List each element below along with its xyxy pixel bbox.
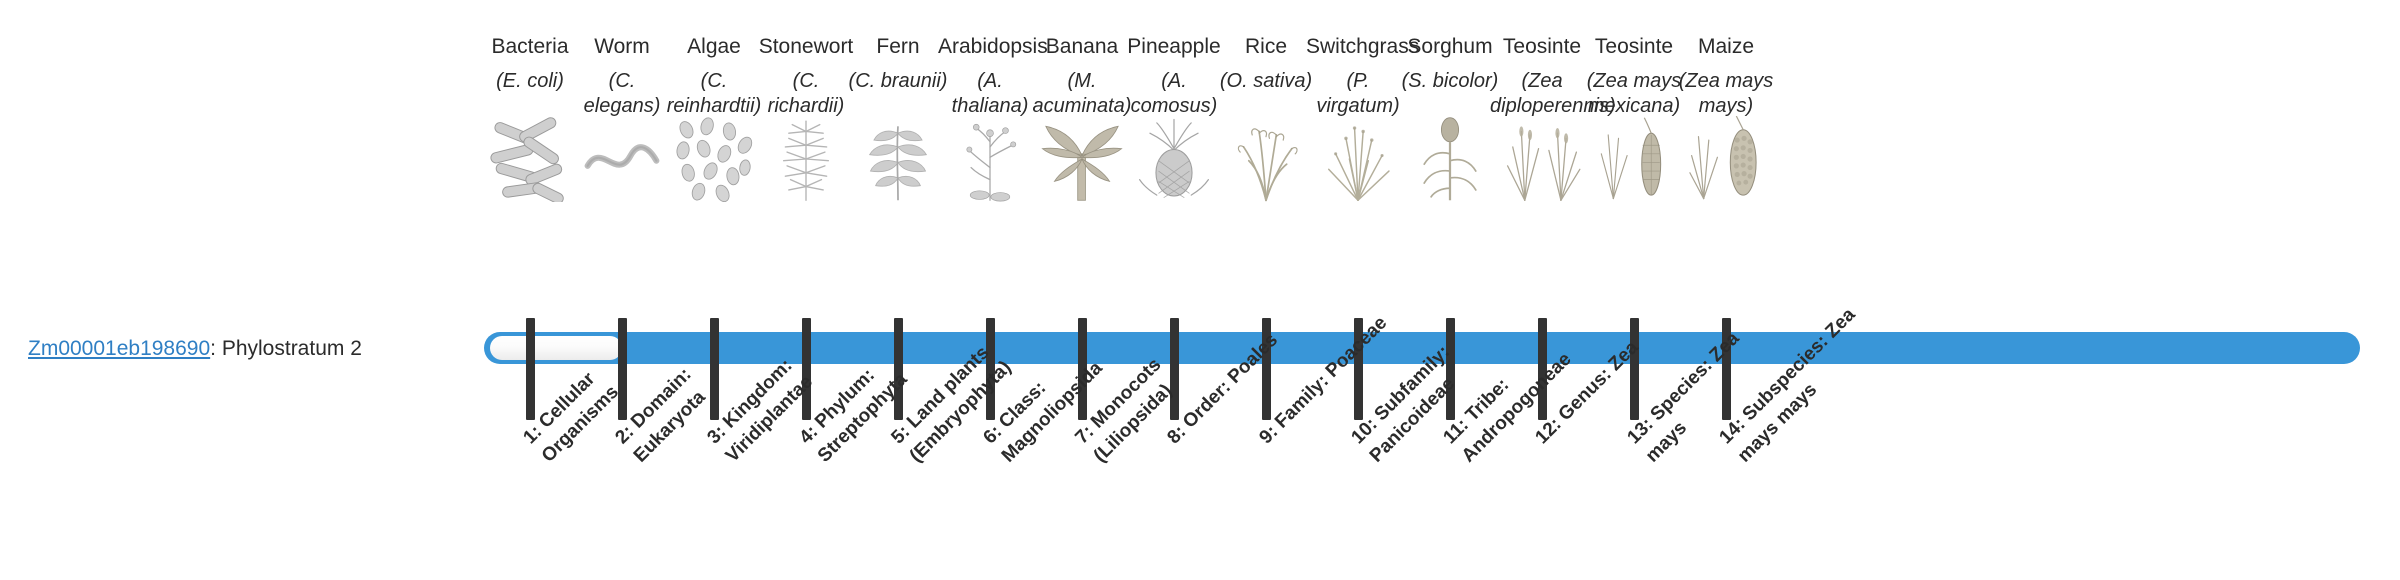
- phylostratum-tick[interactable]: [526, 318, 535, 420]
- phylostratum-timeline: Zm00001eb198690: Phylostratum 2 1: Cellu…: [0, 0, 2400, 580]
- gene-label-separator: :: [210, 337, 222, 360]
- gene-id-link[interactable]: Zm00001eb198690: [28, 337, 210, 360]
- phylostratum-value-text: Phylostratum 2: [222, 337, 362, 360]
- gene-label: Zm00001eb198690: Phylostratum 2: [28, 336, 362, 361]
- phylostratum-chart: Bacteria(E. coli) Worm(C. elegans) Algae…: [0, 0, 2400, 580]
- rank-text: Cellular Organisms: [531, 368, 622, 466]
